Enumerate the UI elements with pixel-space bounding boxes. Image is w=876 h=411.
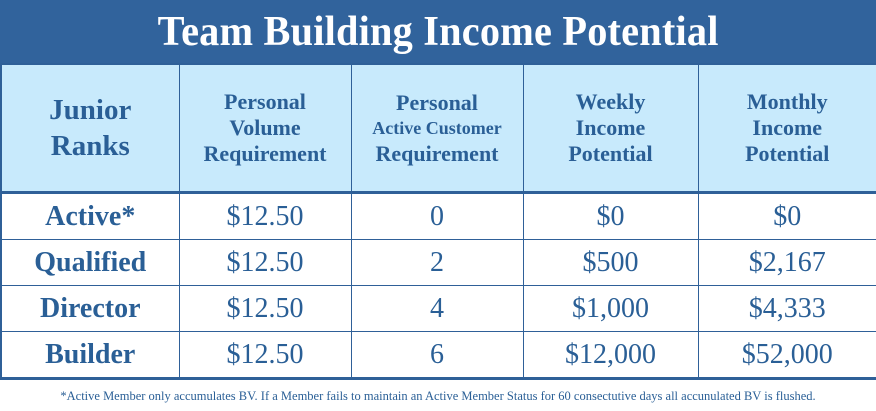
column-header-personal-volume-line1: Personal [180,89,351,115]
cell-monthly-income: $4,333 [698,286,876,332]
column-header-personal-volume-line3: Requirement [180,141,351,167]
cell-personal-volume: $12.50 [179,286,351,332]
column-header-active-customer-line3: Requirement [352,141,523,167]
cell-personal-volume: $12.50 [179,240,351,286]
cell-monthly-income: $52,000 [698,332,876,379]
column-header-weekly-income: Weekly Income Potential [523,64,698,193]
income-potential-table-figure: Team Building Income Potential Junior Ra… [0,0,876,411]
table-row: Qualified $12.50 2 $500 $2,167 [1,240,876,286]
cell-active-customer: 0 [351,193,523,240]
column-header-rank-line1: Junior [2,92,179,128]
column-header-monthly-income: Monthly Income Potential [698,64,876,193]
column-header-weekly-income-line1: Weekly [524,89,698,115]
title-banner: Team Building Income Potential [0,0,876,63]
cell-weekly-income: $500 [523,240,698,286]
column-header-monthly-income-line2: Income [699,115,876,141]
column-header-rank-line2: Ranks [2,128,179,164]
column-header-rank: Junior Ranks [1,64,179,193]
column-header-active-customer: Personal Active Customer Requirement [351,64,523,193]
table-row: Director $12.50 4 $1,000 $4,333 [1,286,876,332]
cell-monthly-income: $0 [698,193,876,240]
table-row: Active* $12.50 0 $0 $0 [1,193,876,240]
column-header-active-customer-line1: Personal [352,90,523,116]
cell-monthly-income: $2,167 [698,240,876,286]
cell-rank: Builder [1,332,179,379]
column-header-personal-volume-line2: Volume [180,115,351,141]
cell-active-customer: 6 [351,332,523,379]
column-header-weekly-income-line3: Potential [524,141,698,167]
column-header-personal-volume: Personal Volume Requirement [179,64,351,193]
cell-weekly-income: $0 [523,193,698,240]
cell-active-customer: 4 [351,286,523,332]
cell-active-customer: 2 [351,240,523,286]
column-header-active-customer-line2: Active Customer [352,116,523,141]
column-header-monthly-income-line1: Monthly [699,89,876,115]
page-title: Team Building Income Potential [158,10,719,54]
column-header-weekly-income-line2: Income [524,115,698,141]
cell-weekly-income: $1,000 [523,286,698,332]
table-row: Builder $12.50 6 $12,000 $52,000 [1,332,876,379]
cell-weekly-income: $12,000 [523,332,698,379]
table-header-row: Junior Ranks Personal Volume Requirement… [1,64,876,193]
cell-rank: Director [1,286,179,332]
column-header-monthly-income-line3: Potential [699,141,876,167]
footnote: *Active Member only accumulates BV. If a… [0,381,876,411]
income-potential-table: Junior Ranks Personal Volume Requirement… [0,63,876,380]
cell-rank: Active* [1,193,179,240]
cell-personal-volume: $12.50 [179,332,351,379]
cell-personal-volume: $12.50 [179,193,351,240]
cell-rank: Qualified [1,240,179,286]
